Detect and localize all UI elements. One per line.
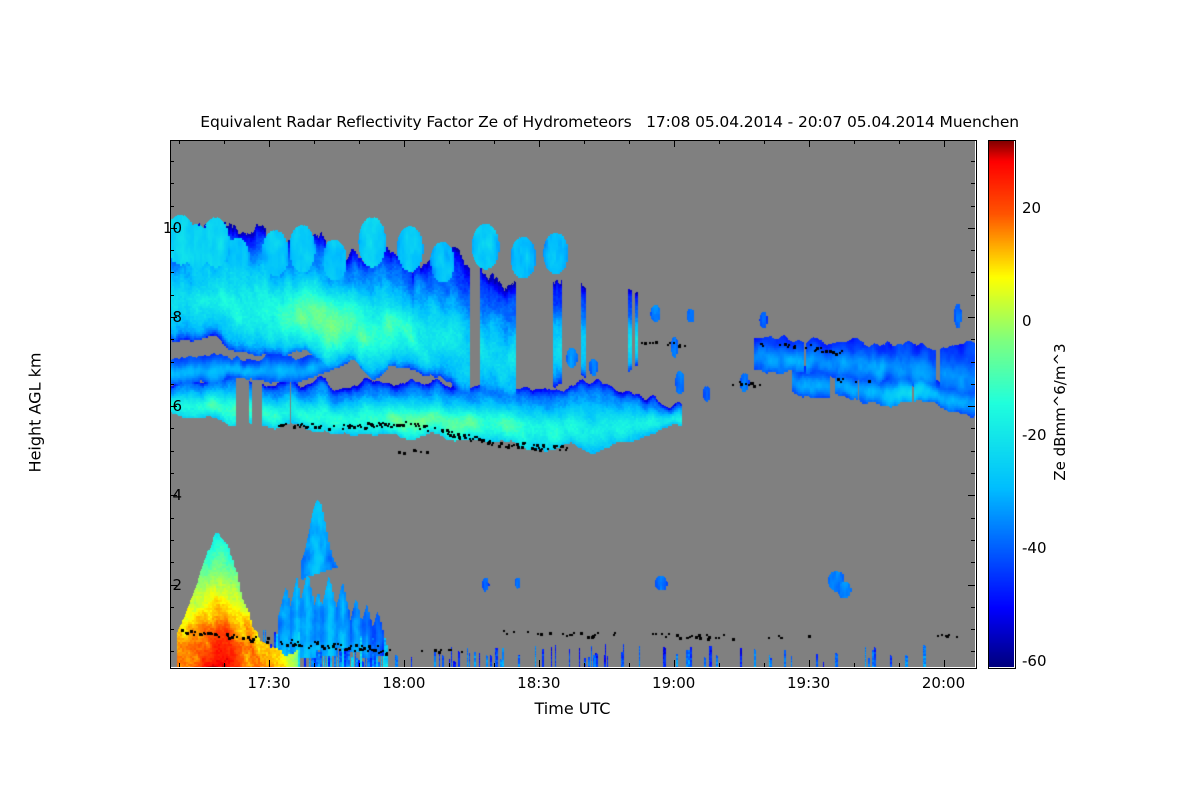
y-tick-minor [170, 473, 174, 474]
x-tick-minor [314, 663, 315, 667]
x-tick-label: 18:30 [517, 674, 560, 692]
y-tick-minor-right [971, 428, 975, 429]
y-tick-minor [170, 161, 174, 162]
x-tick-major-top [809, 140, 810, 147]
y-tick-minor [170, 339, 174, 340]
colorbar-tick-label: -60 [1022, 652, 1047, 670]
x-tick-minor-top [449, 140, 450, 144]
colorbar [988, 140, 1014, 667]
x-tick-label: 20:00 [922, 674, 965, 692]
x-tick-minor-top [899, 140, 900, 144]
y-tick-minor [170, 562, 174, 563]
y-tick-minor [170, 384, 174, 385]
y-tick-minor-right [971, 540, 975, 541]
y-tick-label: 8 [172, 308, 182, 326]
x-tick-minor-top [179, 140, 180, 144]
y-tick-minor-right [971, 339, 975, 340]
x-tick-minor [494, 663, 495, 667]
x-tick-minor [629, 663, 630, 667]
colorbar-canvas [988, 140, 1014, 667]
y-tick-minor [170, 183, 174, 184]
y-tick-minor-right [971, 295, 975, 296]
x-tick-major-top [674, 140, 675, 147]
y-tick-minor-right [971, 629, 975, 630]
y-tick-label: 4 [172, 486, 182, 504]
x-tick-label: 17:30 [247, 674, 290, 692]
y-tick-major-right [968, 585, 975, 586]
x-tick-label: 19:30 [787, 674, 830, 692]
y-tick-label: 6 [172, 397, 182, 415]
y-tick-label: 10 [163, 219, 182, 237]
x-tick-minor [584, 663, 585, 667]
y-tick-minor-right [971, 473, 975, 474]
y-axis-title: Height AGL km [26, 253, 45, 573]
x-tick-minor-top [764, 140, 765, 144]
x-tick-minor-top [854, 140, 855, 144]
y-tick-minor-right [971, 206, 975, 207]
y-tick-label: 2 [172, 576, 182, 594]
y-tick-minor-right [971, 384, 975, 385]
y-tick-minor-right [971, 161, 975, 162]
radar-reflectivity-figure: Equivalent Radar Reflectivity Factor Ze … [0, 0, 1200, 800]
colorbar-tick-label: -40 [1022, 539, 1047, 557]
x-axis-title: Time UTC [0, 699, 1145, 718]
y-tick-minor [170, 607, 174, 608]
x-tick-minor-top [719, 140, 720, 144]
x-tick-minor-top [359, 140, 360, 144]
y-tick-major-right [968, 406, 975, 407]
x-tick-minor [764, 663, 765, 667]
x-tick-major [944, 660, 945, 667]
y-tick-minor [170, 518, 174, 519]
figure-title-text: Equivalent Radar Reflectivity Factor Ze … [200, 113, 1019, 131]
x-tick-minor [899, 663, 900, 667]
x-tick-major-top [539, 140, 540, 147]
x-tick-minor [854, 663, 855, 667]
colorbar-tick-label: -20 [1022, 426, 1047, 444]
colorbar-tick-label: 20 [1022, 199, 1041, 217]
x-tick-minor-top [494, 140, 495, 144]
heatmap-plot-area [170, 140, 975, 667]
y-tick-minor [170, 250, 174, 251]
x-tick-major [404, 660, 405, 667]
x-tick-major [674, 660, 675, 667]
y-tick-minor [170, 651, 174, 652]
y-tick-minor [170, 540, 174, 541]
x-tick-label: 19:00 [652, 674, 695, 692]
y-tick-minor-right [971, 183, 975, 184]
x-tick-minor-top [584, 140, 585, 144]
x-tick-minor [449, 663, 450, 667]
y-tick-minor [170, 295, 174, 296]
x-tick-major [809, 660, 810, 667]
y-tick-minor [170, 206, 174, 207]
x-tick-minor-top [629, 140, 630, 144]
y-tick-minor-right [971, 272, 975, 273]
x-tick-label: 18:00 [382, 674, 425, 692]
x-tick-major [269, 660, 270, 667]
y-tick-minor [170, 362, 174, 363]
y-tick-minor-right [971, 518, 975, 519]
x-tick-minor [224, 663, 225, 667]
x-tick-minor-top [224, 140, 225, 144]
x-tick-major-top [404, 140, 405, 147]
reflectivity-heatmap-canvas [170, 140, 975, 667]
y-tick-major-right [968, 228, 975, 229]
y-tick-minor-right [971, 362, 975, 363]
y-tick-minor [170, 428, 174, 429]
y-tick-major-right [968, 317, 975, 318]
y-tick-minor [170, 272, 174, 273]
y-tick-minor-right [971, 651, 975, 652]
y-tick-minor-right [971, 562, 975, 563]
x-tick-minor [359, 663, 360, 667]
x-tick-minor [179, 663, 180, 667]
colorbar-tick-label: 0 [1022, 312, 1032, 330]
x-tick-major-top [944, 140, 945, 147]
y-tick-minor-right [971, 451, 975, 452]
y-tick-minor [170, 451, 174, 452]
colorbar-title: Ze dBmm^6/m^3 [1051, 252, 1069, 572]
x-tick-major-top [269, 140, 270, 147]
y-tick-minor [170, 629, 174, 630]
x-tick-minor [719, 663, 720, 667]
x-tick-major [539, 660, 540, 667]
y-tick-minor-right [971, 607, 975, 608]
y-tick-minor-right [971, 250, 975, 251]
x-tick-minor-top [314, 140, 315, 144]
y-tick-major-right [968, 495, 975, 496]
